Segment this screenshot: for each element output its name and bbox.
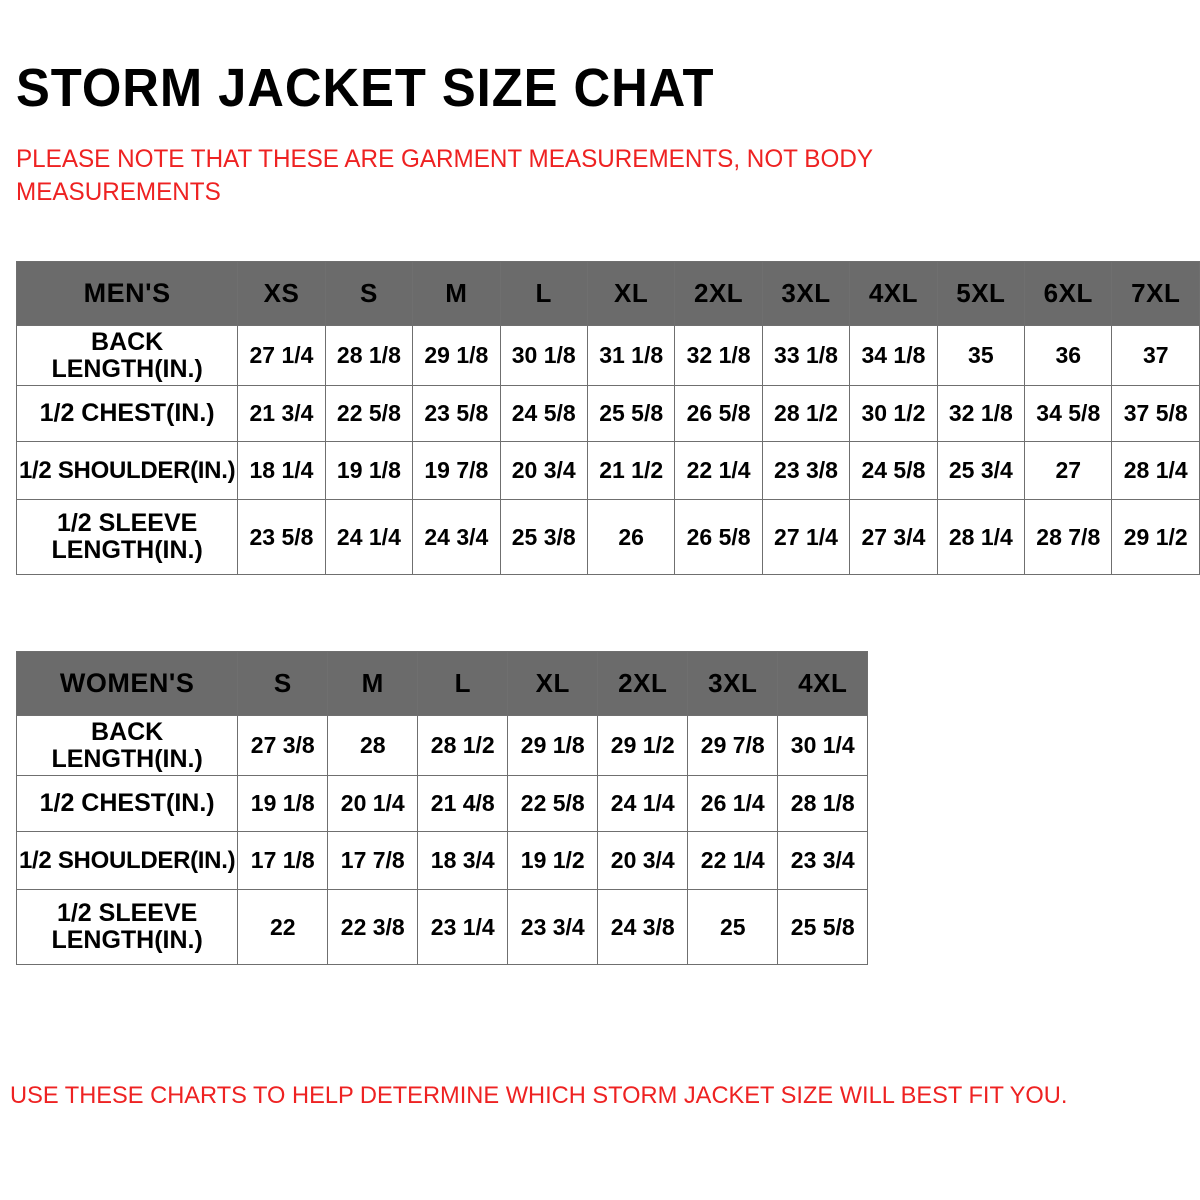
cell-mens-shoulder-3xl: 23 3/8 xyxy=(762,442,849,500)
cell-mens-back-length-s: 28 1/8 xyxy=(325,326,412,386)
womens-corner-label: WOMEN'S xyxy=(17,652,238,716)
mens-col-header-xs: XS xyxy=(238,262,325,326)
cell-mens-shoulder-s: 19 1/8 xyxy=(325,442,412,500)
cell-womens-chest-4xl: 28 1/8 xyxy=(778,776,868,832)
cell-womens-sleeve-xl: 23 3/4 xyxy=(508,890,598,965)
mens-table-body: BACK LENGTH(IN.) 27 1/4 28 1/8 29 1/8 30… xyxy=(17,326,1200,575)
womens-row-label-half-chest: 1/2 CHEST(IN.) xyxy=(17,776,238,832)
mens-col-header-l: L xyxy=(500,262,587,326)
womens-col-header-m: M xyxy=(328,652,418,716)
table-row: 1/2 SHOULDER(IN.) 18 1/4 19 1/8 19 7/8 2… xyxy=(17,442,1200,500)
cell-mens-sleeve-m: 24 3/4 xyxy=(413,500,500,575)
cell-mens-chest-2xl: 26 5/8 xyxy=(675,386,762,442)
table-header-row: WOMEN'S S M L XL 2XL 3XL 4XL xyxy=(17,652,868,716)
cell-mens-chest-s: 22 5/8 xyxy=(325,386,412,442)
cell-womens-shoulder-2xl: 20 3/4 xyxy=(598,832,688,890)
cell-womens-back-length-m: 28 xyxy=(328,716,418,776)
cell-mens-sleeve-2xl: 26 5/8 xyxy=(675,500,762,575)
cell-mens-sleeve-6xl: 28 7/8 xyxy=(1025,500,1112,575)
cell-mens-back-length-4xl: 34 1/8 xyxy=(850,326,937,386)
cell-womens-shoulder-m: 17 7/8 xyxy=(328,832,418,890)
mens-col-header-xl: XL xyxy=(587,262,674,326)
cell-womens-back-length-s: 27 3/8 xyxy=(238,716,328,776)
cell-mens-back-length-l: 30 1/8 xyxy=(500,326,587,386)
table-row: 1/2 CHEST(IN.) 19 1/8 20 1/4 21 4/8 22 5… xyxy=(17,776,868,832)
cell-mens-sleeve-3xl: 27 1/4 xyxy=(762,500,849,575)
cell-mens-chest-m: 23 5/8 xyxy=(413,386,500,442)
cell-mens-back-length-3xl: 33 1/8 xyxy=(762,326,849,386)
womens-table-header: WOMEN'S S M L XL 2XL 3XL 4XL xyxy=(17,652,868,716)
row-label-line1: BACK xyxy=(91,328,163,356)
cell-mens-sleeve-xl: 26 xyxy=(587,500,674,575)
table-row: 1/2 SLEEVE LENGTH(IN.) 22 22 3/8 23 1/4 … xyxy=(17,890,868,965)
cell-womens-shoulder-3xl: 22 1/4 xyxy=(688,832,778,890)
cell-womens-shoulder-xl: 19 1/2 xyxy=(508,832,598,890)
womens-col-header-3xl: 3XL xyxy=(688,652,778,716)
cell-mens-back-length-5xl: 35 xyxy=(937,326,1024,386)
cell-womens-sleeve-3xl: 25 xyxy=(688,890,778,965)
mens-row-label-half-sleeve-length: 1/2 SLEEVE LENGTH(IN.) xyxy=(17,500,238,575)
cell-mens-sleeve-xs: 23 5/8 xyxy=(238,500,325,575)
cell-mens-back-length-xs: 27 1/4 xyxy=(238,326,325,386)
cell-mens-chest-3xl: 28 1/2 xyxy=(762,386,849,442)
cell-mens-back-length-7xl: 37 xyxy=(1112,326,1200,386)
cell-mens-shoulder-7xl: 28 1/4 xyxy=(1112,442,1200,500)
mens-col-header-2xl: 2XL xyxy=(675,262,762,326)
row-label-line1: 1/2 SLEEVE xyxy=(57,899,197,927)
table-row: BACK LENGTH(IN.) 27 3/8 28 28 1/2 29 1/8… xyxy=(17,716,868,776)
cell-mens-chest-l: 24 5/8 xyxy=(500,386,587,442)
garment-measurement-notice: PLEASE NOTE THAT THESE ARE GARMENT MEASU… xyxy=(16,143,947,209)
cell-mens-chest-xl: 25 5/8 xyxy=(587,386,674,442)
cell-womens-sleeve-l: 23 1/4 xyxy=(418,890,508,965)
cell-mens-back-length-2xl: 32 1/8 xyxy=(675,326,762,386)
row-label-line1: BACK xyxy=(91,718,163,746)
womens-row-label-half-sleeve-length: 1/2 SLEEVE LENGTH(IN.) xyxy=(17,890,238,965)
cell-mens-shoulder-2xl: 22 1/4 xyxy=(675,442,762,500)
cell-mens-chest-xs: 21 3/4 xyxy=(238,386,325,442)
womens-col-header-4xl: 4XL xyxy=(778,652,868,716)
size-chart-page: STORM JACKET SIZE CHAT PLEASE NOTE THAT … xyxy=(0,0,1200,1200)
womens-col-header-xl: XL xyxy=(508,652,598,716)
cell-mens-shoulder-6xl: 27 xyxy=(1025,442,1112,500)
cell-womens-sleeve-2xl: 24 3/8 xyxy=(598,890,688,965)
womens-col-header-s: S xyxy=(238,652,328,716)
cell-womens-back-length-3xl: 29 7/8 xyxy=(688,716,778,776)
cell-womens-shoulder-s: 17 1/8 xyxy=(238,832,328,890)
mens-col-header-m: M xyxy=(413,262,500,326)
cell-womens-shoulder-4xl: 23 3/4 xyxy=(778,832,868,890)
mens-col-header-s: S xyxy=(325,262,412,326)
womens-size-table: WOMEN'S S M L XL 2XL 3XL 4XL BACK LENGTH… xyxy=(16,651,868,965)
womens-size-table-container: WOMEN'S S M L XL 2XL 3XL 4XL BACK LENGTH… xyxy=(16,651,868,965)
cell-mens-back-length-m: 29 1/8 xyxy=(413,326,500,386)
cell-womens-sleeve-s: 22 xyxy=(238,890,328,965)
cell-mens-chest-7xl: 37 5/8 xyxy=(1112,386,1200,442)
mens-row-label-half-chest: 1/2 CHEST(IN.) xyxy=(17,386,238,442)
mens-col-header-3xl: 3XL xyxy=(762,262,849,326)
mens-col-header-7xl: 7XL xyxy=(1112,262,1200,326)
cell-womens-sleeve-m: 22 3/8 xyxy=(328,890,418,965)
cell-womens-back-length-4xl: 30 1/4 xyxy=(778,716,868,776)
mens-corner-label: MEN'S xyxy=(17,262,238,326)
cell-mens-shoulder-xl: 21 1/2 xyxy=(587,442,674,500)
cell-mens-back-length-6xl: 36 xyxy=(1025,326,1112,386)
cell-womens-chest-l: 21 4/8 xyxy=(418,776,508,832)
mens-col-header-6xl: 6XL xyxy=(1025,262,1112,326)
cell-womens-back-length-xl: 29 1/8 xyxy=(508,716,598,776)
row-label-line2: LENGTH(IN.) xyxy=(51,745,202,773)
cell-mens-shoulder-4xl: 24 5/8 xyxy=(850,442,937,500)
cell-womens-sleeve-4xl: 25 5/8 xyxy=(778,890,868,965)
womens-row-label-half-shoulder: 1/2 SHOULDER(IN.) xyxy=(17,832,238,890)
cell-womens-back-length-2xl: 29 1/2 xyxy=(598,716,688,776)
womens-col-header-2xl: 2XL xyxy=(598,652,688,716)
cell-womens-chest-m: 20 1/4 xyxy=(328,776,418,832)
table-header-row: MEN'S XS S M L XL 2XL 3XL 4XL 5XL 6XL 7X… xyxy=(17,262,1200,326)
mens-col-header-4xl: 4XL xyxy=(850,262,937,326)
cell-mens-shoulder-5xl: 25 3/4 xyxy=(937,442,1024,500)
cell-mens-back-length-xl: 31 1/8 xyxy=(587,326,674,386)
row-label-line2: LENGTH(IN.) xyxy=(51,536,202,564)
row-label-line2: LENGTH(IN.) xyxy=(51,355,202,383)
cell-mens-sleeve-4xl: 27 3/4 xyxy=(850,500,937,575)
cell-mens-chest-6xl: 34 5/8 xyxy=(1025,386,1112,442)
cell-mens-shoulder-m: 19 7/8 xyxy=(413,442,500,500)
mens-row-label-back-length: BACK LENGTH(IN.) xyxy=(17,326,238,386)
womens-table-body: BACK LENGTH(IN.) 27 3/8 28 28 1/2 29 1/8… xyxy=(17,716,868,965)
cell-mens-shoulder-l: 20 3/4 xyxy=(500,442,587,500)
cell-mens-sleeve-l: 25 3/8 xyxy=(500,500,587,575)
mens-row-label-half-shoulder: 1/2 SHOULDER(IN.) xyxy=(17,442,238,500)
cell-womens-chest-s: 19 1/8 xyxy=(238,776,328,832)
cell-mens-sleeve-5xl: 28 1/4 xyxy=(937,500,1024,575)
mens-size-table-container: MEN'S XS S M L XL 2XL 3XL 4XL 5XL 6XL 7X… xyxy=(16,261,1200,575)
cell-mens-chest-4xl: 30 1/2 xyxy=(850,386,937,442)
footer-help-note: USE THESE CHARTS TO HELP DETERMINE WHICH… xyxy=(10,1082,1067,1110)
page-title: STORM JACKET SIZE CHAT xyxy=(16,60,714,117)
womens-row-label-back-length: BACK LENGTH(IN.) xyxy=(17,716,238,776)
mens-size-table: MEN'S XS S M L XL 2XL 3XL 4XL 5XL 6XL 7X… xyxy=(16,261,1200,575)
cell-mens-shoulder-xs: 18 1/4 xyxy=(238,442,325,500)
cell-womens-chest-xl: 22 5/8 xyxy=(508,776,598,832)
cell-womens-shoulder-l: 18 3/4 xyxy=(418,832,508,890)
cell-mens-chest-5xl: 32 1/8 xyxy=(937,386,1024,442)
table-row: 1/2 CHEST(IN.) 21 3/4 22 5/8 23 5/8 24 5… xyxy=(17,386,1200,442)
mens-col-header-5xl: 5XL xyxy=(937,262,1024,326)
cell-womens-chest-2xl: 24 1/4 xyxy=(598,776,688,832)
table-row: 1/2 SLEEVE LENGTH(IN.) 23 5/8 24 1/4 24 … xyxy=(17,500,1200,575)
cell-womens-back-length-l: 28 1/2 xyxy=(418,716,508,776)
cell-womens-chest-3xl: 26 1/4 xyxy=(688,776,778,832)
mens-table-header: MEN'S XS S M L XL 2XL 3XL 4XL 5XL 6XL 7X… xyxy=(17,262,1200,326)
row-label-line2: LENGTH(IN.) xyxy=(51,926,202,954)
table-row: 1/2 SHOULDER(IN.) 17 1/8 17 7/8 18 3/4 1… xyxy=(17,832,868,890)
cell-mens-sleeve-7xl: 29 1/2 xyxy=(1112,500,1200,575)
womens-col-header-l: L xyxy=(418,652,508,716)
table-row: BACK LENGTH(IN.) 27 1/4 28 1/8 29 1/8 30… xyxy=(17,326,1200,386)
row-label-line1: 1/2 SLEEVE xyxy=(57,509,197,537)
cell-mens-sleeve-s: 24 1/4 xyxy=(325,500,412,575)
